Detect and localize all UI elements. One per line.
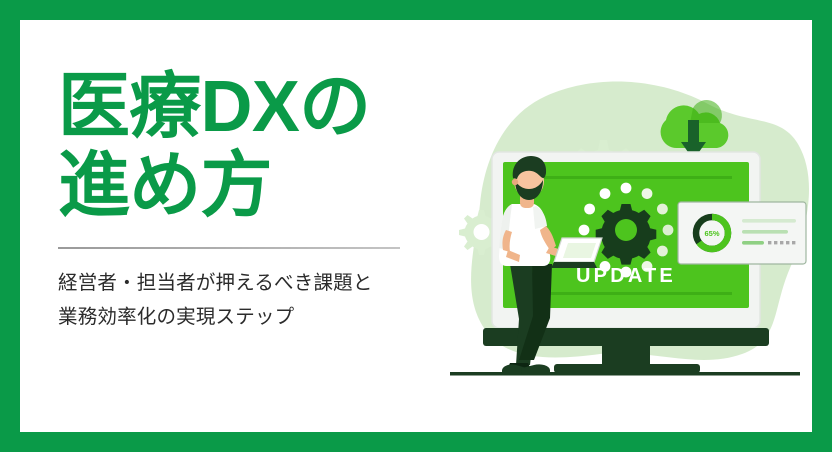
- subtitle-line-2: 業務効率化の実現ステップ: [58, 301, 438, 335]
- screen-update-label: UPDATE: [576, 265, 676, 287]
- poster-inner-card: 医療DXの 進め方 経営者・担当者が押えるべき課題と 業務効率化の実現ステップ: [20, 20, 812, 432]
- system-update-illustration: UPDATE 65%: [450, 78, 812, 388]
- divider: [58, 247, 400, 249]
- progress-card: 65%: [678, 202, 806, 264]
- card-text-line-3: [742, 241, 764, 245]
- text-block: 医療DXの 進め方 経営者・担当者が押えるべき課題と 業務効率化の実現ステップ: [58, 72, 438, 334]
- poster-root: 医療DXの 進め方 経営者・担当者が押えるべき課題と 業務効率化の実現ステップ: [0, 0, 832, 452]
- headline-line-1-text: 医療DXの: [58, 67, 370, 147]
- card-text-line-2: [742, 230, 788, 234]
- subtitle: 経営者・担当者が押えるべき課題と 業務効率化の実現ステップ: [58, 267, 438, 334]
- progress-ring: 65%: [696, 217, 728, 249]
- headline-line-1: 医療DXの: [58, 72, 438, 143]
- card-text-line-1: [742, 219, 796, 223]
- headline-line-2-text: 進め方: [58, 146, 272, 226]
- subtitle-line-1: 経営者・担当者が押えるべき課題と: [58, 267, 438, 301]
- headline-line-2: 進め方: [58, 151, 438, 222]
- progress-percent-label: 65%: [704, 229, 719, 238]
